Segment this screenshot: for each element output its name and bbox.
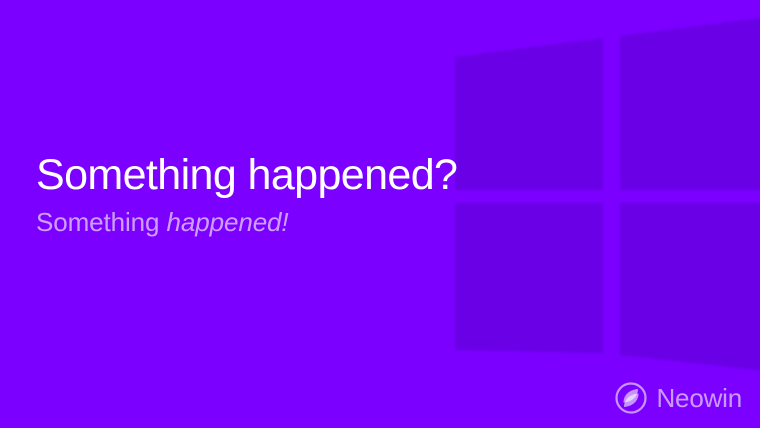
page-subtitle: Something happened! — [36, 206, 476, 238]
windows-pane-top-right — [620, 16, 760, 190]
subtitle-regular-part: Something — [36, 207, 167, 237]
slide-canvas: Something happened? Something happened! … — [0, 0, 760, 428]
windows-pane-top-left — [455, 38, 603, 190]
windows-pane-bottom-right — [620, 203, 760, 372]
neowin-wordmark: Neowin — [656, 383, 742, 413]
windows-pane-bottom-left — [455, 203, 603, 353]
page-title: Something happened? — [36, 150, 476, 200]
neowin-circle-icon — [615, 382, 647, 414]
subtitle-italic-part: happened! — [167, 207, 289, 237]
neowin-watermark: Neowin — [615, 382, 742, 414]
headline-block: Something happened? Something happened! — [36, 150, 476, 238]
